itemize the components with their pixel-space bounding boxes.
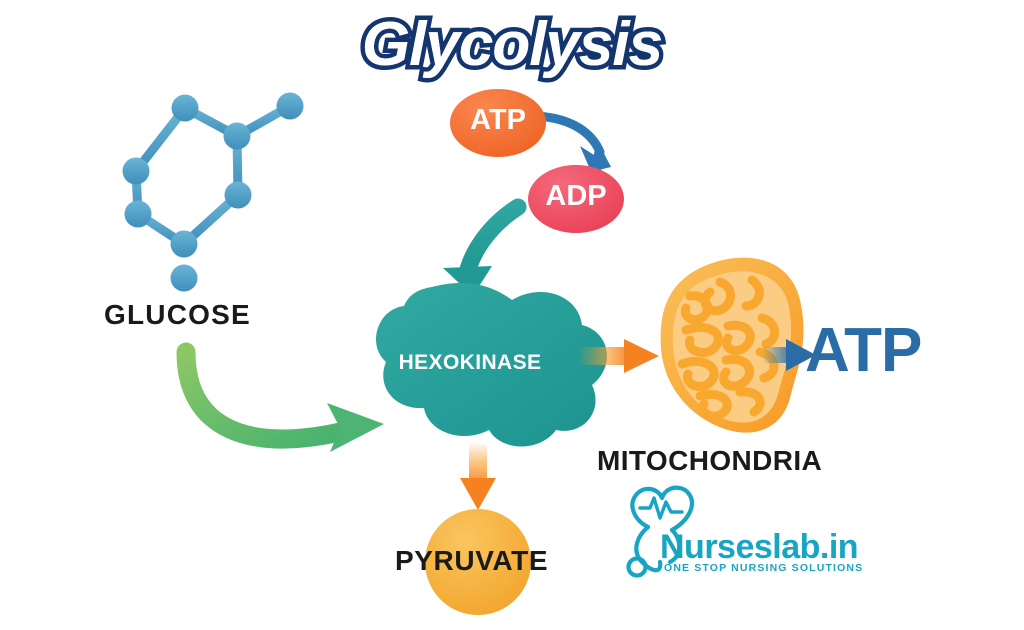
- glucose-atom: [225, 182, 252, 209]
- atp-to-adp-arrow: [536, 116, 611, 173]
- mitochondria-label: MITOCHONDRIA: [597, 447, 822, 475]
- hexokinase-to-pyruvate-arrow: [460, 442, 496, 510]
- atp-bubble-label: ATP: [452, 106, 544, 135]
- glucose-atom: [172, 95, 199, 122]
- glucose-to-hexokinase-arrow: [186, 352, 384, 452]
- brand-name: Nurseslab.in: [660, 530, 858, 564]
- glucose-atom: [125, 201, 152, 228]
- hexokinase-label: HEXOKINASE: [370, 352, 570, 373]
- glucose-atom: [171, 231, 198, 258]
- atp-output-label: ATP: [805, 320, 921, 382]
- mitochondria-icon: [661, 258, 804, 433]
- glycolysis-diagram: Glycolysis Glycolysis ATP ADP HEXOKINASE…: [0, 0, 1024, 630]
- adp-bubble-label: ADP: [530, 182, 622, 211]
- glucose-atom: [224, 123, 251, 150]
- glucose-atom: [171, 265, 198, 292]
- pyruvate-label: PYRUVATE: [395, 547, 548, 575]
- glucose-molecule-icon: [123, 93, 304, 292]
- page-title-fill: Glycolysis: [0, 14, 1024, 76]
- brand-tagline: ONE STOP NURSING SOLUTIONS: [664, 563, 863, 574]
- glucose-atom: [277, 93, 304, 120]
- glucose-label: GLUCOSE: [104, 301, 251, 329]
- glucose-atom: [123, 158, 150, 185]
